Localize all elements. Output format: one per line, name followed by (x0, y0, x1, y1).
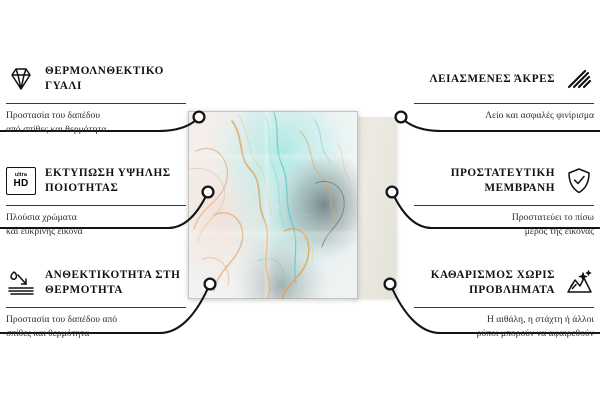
feature-description: Προστασία του δαπέδου από σπίθες και θερ… (6, 313, 186, 342)
feature-description: Πλούσια χρώματα και ευκρινής εικόνα (6, 211, 186, 240)
feature-heat-durability: ΑΝΘΕΚΤΙΚΟΤΗΤΑ ΣΤΗ ΘΕΡΜΟΤΗΤΑ Προστασία το… (6, 264, 186, 342)
feature-title: ΘΕΡΜΟΛΝΘΕΚΤΙΚΟ ΓΥΑΛΙ (45, 64, 186, 94)
flame-deflect-icon (6, 268, 36, 298)
feature-heat-resistant-glass: ΘΕΡΜΟΛΝΘΕΚΤΙΚΟ ΓΥΑΛΙ Προστασία του δαπέδ… (6, 60, 186, 138)
diamond-icon (6, 64, 36, 94)
feature-title: ΕΚΤΥΠΩΣΗ ΥΨΗΛΗΣ ΠΟΙΟΤΗΤΑΣ (45, 166, 186, 196)
product-image-group (188, 111, 380, 301)
feature-header: ΑΝΘΕΚΤΙΚΟΤΗΤΑ ΣΤΗ ΘΕΡΜΟΤΗΤΑ (6, 264, 186, 302)
feature-header: ΛΕΙΑΣΜΕΝΕΣ ΆΚΡΕΣ (414, 60, 594, 98)
feature-title: ΠΡΟΣΤΑΤΕΥΤΙΚΗ ΜΕΜΒΡΑΝΗ (414, 166, 555, 196)
feature-header: ΚΑΘΑΡΙΣΜΟΣ ΧΩΡΙΣ ΠΡΟΒΛΗΜΑΤΑ (414, 264, 594, 302)
feature-easy-cleaning: ΚΑΘΑΡΙΣΜΟΣ ΧΩΡΙΣ ΠΡΟΒΛΗΜΑΤΑ Η αιθάλη, η … (414, 264, 594, 342)
ultra-hd-icon: ultra HD (6, 166, 36, 196)
divider (6, 103, 186, 104)
glass-panel (188, 111, 358, 299)
feature-description: Προστασία του δαπέδου από σπίθες και θερ… (6, 109, 186, 138)
divider (6, 307, 186, 308)
feature-protective-membrane: ΠΡΟΣΤΑΤΕΥΤΙΚΗ ΜΕΜΒΡΑΝΗ Προστατεύει το πί… (414, 162, 594, 240)
marble-artwork (188, 111, 358, 299)
feature-polished-edges: ΛΕΙΑΣΜΕΝΕΣ ΆΚΡΕΣ Λείο και ασφαλές φινίρι… (414, 60, 594, 123)
infographic-canvas: ΘΕΡΜΟΛΝΘΕΚΤΙΚΟ ΓΥΑΛΙ Προστασία του δαπέδ… (0, 0, 600, 400)
polished-edges-icon (564, 64, 594, 94)
divider (414, 205, 594, 206)
divider (6, 205, 186, 206)
shield-check-icon (564, 166, 594, 196)
divider (414, 307, 594, 308)
feature-title: ΚΑΘΑΡΙΣΜΟΣ ΧΩΡΙΣ ΠΡΟΒΛΗΜΑΤΑ (414, 268, 555, 298)
feature-description: Η αιθάλη, η στάχτη ή άλλοι ρύποι μπορούν… (414, 313, 594, 342)
divider (414, 103, 594, 104)
feature-title: ΑΝΘΕΚΤΙΚΟΤΗΤΑ ΣΤΗ ΘΕΡΜΟΤΗΤΑ (45, 268, 186, 298)
ultra-hd-bottom-label: HD (13, 179, 28, 189)
feature-high-quality-print: ultra HD ΕΚΤΥΠΩΣΗ ΥΨΗΛΗΣ ΠΟΙΟΤΗΤΑΣ Πλούσ… (6, 162, 186, 240)
feature-description: Προστατεύει το πίσω μέρος της εικόνας (414, 211, 594, 240)
feature-description: Λείο και ασφαλές φινίρισμα (414, 109, 594, 123)
feature-header: ΠΡΟΣΤΑΤΕΥΤΙΚΗ ΜΕΜΒΡΑΝΗ (414, 162, 594, 200)
feature-header: ΘΕΡΜΟΛΝΘΕΚΤΙΚΟ ΓΥΑΛΙ (6, 60, 186, 98)
feature-header: ultra HD ΕΚΤΥΠΩΣΗ ΥΨΗΛΗΣ ΠΟΙΟΤΗΤΑΣ (6, 162, 186, 200)
feature-title: ΛΕΙΑΣΜΕΝΕΣ ΆΚΡΕΣ (430, 72, 555, 87)
easy-clean-icon (564, 268, 594, 298)
